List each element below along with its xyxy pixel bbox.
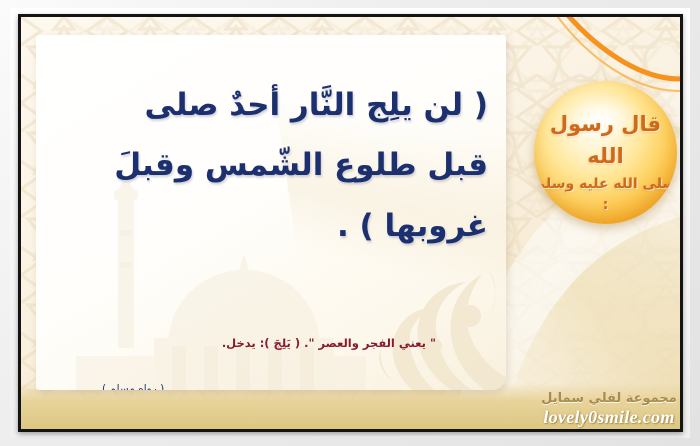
hadith-line-1: ( لن يلِج النَّار أحدٌ صلى [58, 75, 488, 135]
badge-text: قال رسول الله صلى الله عليه وسلم : [534, 109, 677, 216]
hadith-line-2: قبل طلوع الشّمس وقبلَ [58, 135, 488, 195]
hadith-text: ( لن يلِج النَّار أحدٌ صلى قبل طلوع الشّ… [58, 75, 488, 256]
gold-sphere-badge: قال رسول الله صلى الله عليه وسلم : [534, 81, 677, 224]
hadith-line-3: غروبها ) . [58, 196, 488, 256]
hadith-narrator: ( رواه مسلم ) [102, 383, 164, 390]
badge-line-1: قال رسول الله [534, 109, 677, 172]
footer-branding: مجموعة لفلي سمايل lovely0smile.com [519, 391, 680, 428]
brand-arabic-name: مجموعة لفلي سمايل [519, 391, 680, 406]
poster-canvas: ( لن يلِج النَّار أحدٌ صلى قبل طلوع الشّ… [21, 17, 680, 429]
brand-website-url: lovely0smile.com [519, 407, 680, 428]
content-card: ( لن يلِج النَّار أحدٌ صلى قبل طلوع الشّ… [36, 35, 506, 390]
badge-line-2: صلى الله عليه وسلم : [534, 174, 677, 216]
hadith-footnote: " يعني الفجر والعصر ". ( يَلِجَ ): يدخل. [91, 335, 436, 351]
hadith-poster: ( لن يلِج النَّار أحدٌ صلى قبل طلوع الشّ… [0, 0, 700, 446]
